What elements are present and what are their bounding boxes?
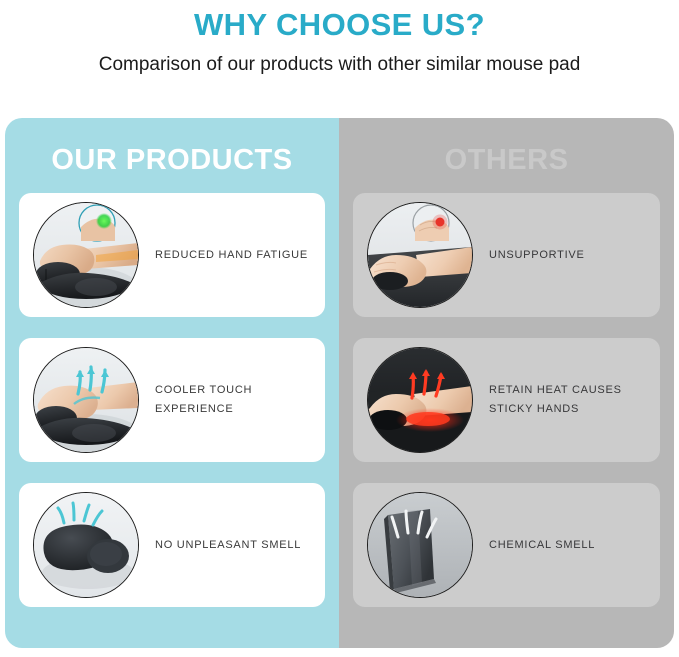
comparison-panel: OUR PRODUCTS (5, 118, 674, 648)
feature-label: RETAIN HEAT CAUSES STICKY HANDS (489, 381, 660, 419)
column-header-our-products: OUR PRODUCTS (19, 118, 325, 193)
column-others: OTHERS (339, 118, 674, 648)
feature-card-retain-heat-sticky-hands: RETAIN HEAT CAUSES STICKY HANDS (353, 338, 660, 462)
column-header-others: OTHERS (353, 118, 660, 193)
feature-label: COOLER TOUCH EXPERIENCE (155, 381, 325, 419)
feature-card-reduced-hand-fatigue: REDUCED HAND FATIGUE (19, 193, 325, 317)
gray-pad-with-white-odor-wisps-photo (367, 492, 473, 598)
feature-label: CHEMICAL SMELL (489, 536, 595, 555)
hand-with-cool-teal-airflow-arrows-photo (33, 347, 139, 453)
feature-card-unsupportive: UNSUPPORTIVE (353, 193, 660, 317)
page-title: WHY CHOOSE US? (0, 4, 679, 46)
hand-with-red-heat-glow-arrows-photo (367, 347, 473, 453)
column-our-products: OUR PRODUCTS (5, 118, 339, 648)
feature-label: REDUCED HAND FATIGUE (155, 246, 308, 265)
feature-card-no-unpleasant-smell: NO UNPLEASANT SMELL (19, 483, 325, 607)
hand-on-wrist-rest-with-green-highlight-photo (33, 202, 139, 308)
page-header: WHY CHOOSE US? Comparison of our product… (0, 0, 679, 78)
feature-card-chemical-smell: CHEMICAL SMELL (353, 483, 660, 607)
feature-label: NO UNPLEASANT SMELL (155, 536, 301, 555)
feature-label: UNSUPPORTIVE (489, 246, 585, 265)
mouse-pad-with-teal-fresh-air-wisps-photo (33, 492, 139, 598)
page-subtitle: Comparison of our products with other si… (0, 46, 679, 78)
feature-card-cooler-touch-experience: COOLER TOUCH EXPERIENCE (19, 338, 325, 462)
flat-hand-on-plain-pad-with-red-pressure-dot-photo (367, 202, 473, 308)
